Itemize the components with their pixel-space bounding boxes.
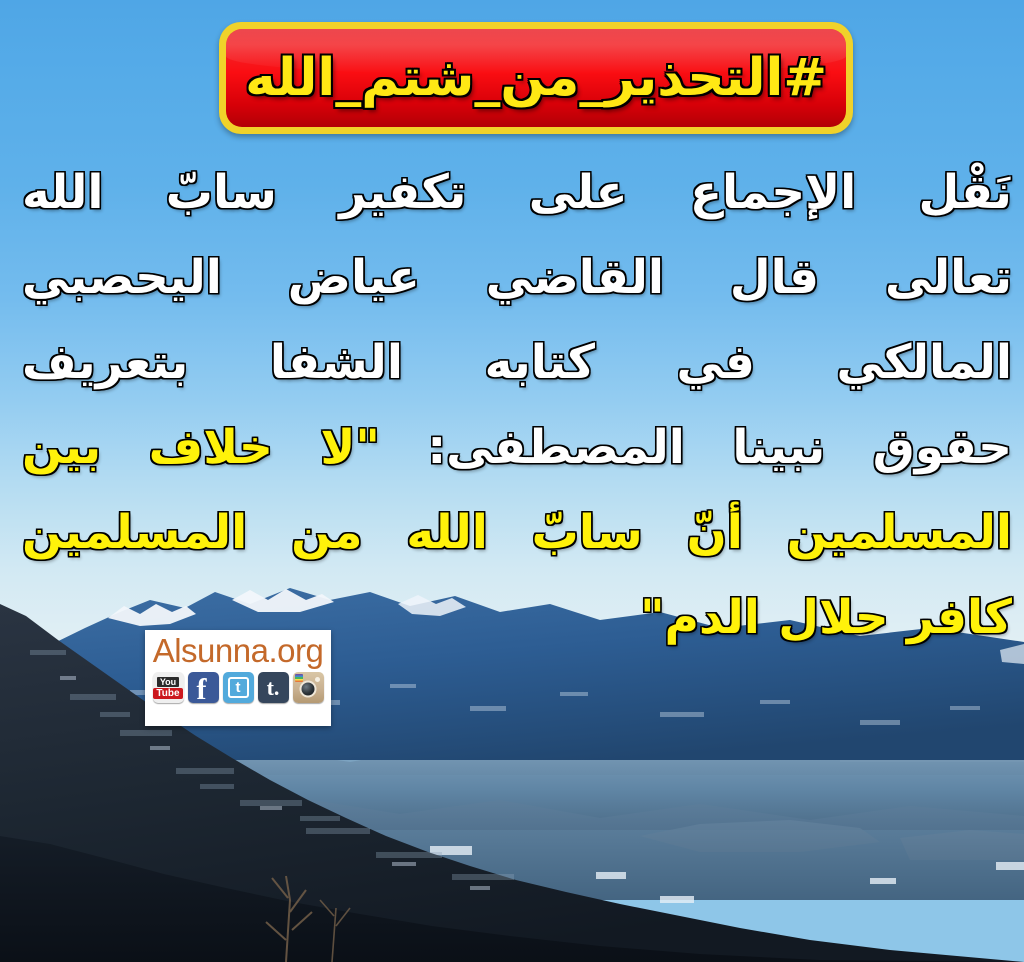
- twitter-icon[interactable]: t: [223, 672, 254, 703]
- quote-word: تكفير: [339, 165, 466, 220]
- quote-word: القاضي: [486, 250, 664, 305]
- instagram-icon[interactable]: [293, 672, 324, 703]
- quote-word-highlight: "لا: [320, 420, 379, 475]
- facebook-icon-glyph: f: [197, 675, 207, 703]
- quote-word: قال: [730, 250, 819, 305]
- quote-word: بتعريف: [22, 335, 188, 390]
- hashtag-banner-inner: #التحذير_من_شتم_الله: [226, 29, 846, 127]
- quote-word: في: [677, 335, 755, 390]
- quote-line-3: المالكي في كتابه الشفا بتعريف: [22, 320, 1012, 405]
- youtube-icon-top-label: You: [157, 677, 179, 687]
- quote-word-highlight: كافر: [907, 590, 1012, 645]
- quote-word-highlight: سابّ: [532, 505, 643, 560]
- quote-word: نبينا: [732, 420, 825, 475]
- social-links-row: You Tube f t t.: [153, 672, 324, 703]
- twitter-icon-frame: t: [228, 677, 249, 698]
- quote-word-highlight: بين: [22, 420, 101, 475]
- quote-block: نَقْل الإجماع على تكفير سابّ الله تعالى …: [22, 150, 1012, 660]
- instagram-icon-flash: [315, 677, 320, 682]
- poster-canvas: #التحذير_من_شتم_الله نَقْل الإجماع على ت…: [0, 0, 1024, 962]
- hashtag-text: #التحذير_من_شتم_الله: [245, 52, 827, 104]
- quote-word-highlight: الدم": [640, 590, 760, 645]
- hashtag-banner: #التحذير_من_شتم_الله: [219, 22, 853, 134]
- tumblr-icon[interactable]: t.: [258, 672, 289, 703]
- quote-word: سابّ: [166, 165, 277, 220]
- quote-word-highlight: أنّ: [687, 505, 743, 560]
- quote-word-highlight: خلاف: [149, 420, 273, 475]
- quote-word-highlight: المسلمين: [22, 505, 247, 560]
- quote-line-4: حقوق نبينا المصطفى: "لا خلاف بين: [22, 405, 1012, 490]
- quote-word-highlight: الله: [406, 505, 487, 560]
- quote-word-highlight: حلال: [778, 590, 888, 645]
- quote-word: عياض: [288, 250, 420, 305]
- quote-word: حقوق: [873, 420, 1012, 475]
- quote-word: المصطفى:: [427, 420, 685, 475]
- quote-word: الله: [22, 165, 103, 220]
- quote-word: نَقْل: [919, 165, 1012, 220]
- quote-line-2: تعالى قال القاضي عياض اليحصبي: [22, 235, 1012, 320]
- quote-word: اليحصبي: [22, 250, 222, 305]
- instagram-icon-stripe: [295, 674, 303, 682]
- quote-line-1: نَقْل الإجماع على تكفير سابّ الله: [22, 150, 1012, 235]
- quote-word-highlight: من: [291, 505, 362, 560]
- quote-word: على: [529, 165, 628, 220]
- twitter-icon-glyph: t: [236, 680, 241, 695]
- site-name-label: Alsunna.org: [153, 633, 324, 669]
- quote-word: المالكي: [837, 335, 1012, 390]
- quote-word: كتابه: [485, 335, 595, 390]
- quote-word: تعالى: [885, 250, 1012, 305]
- quote-line-5: المسلمين أنّ سابّ الله من المسلمين: [22, 490, 1012, 575]
- instagram-icon-lens: [300, 680, 317, 697]
- quote-word: الإجماع: [690, 165, 856, 220]
- quote-word-highlight: المسلمين: [787, 505, 1012, 560]
- facebook-icon[interactable]: f: [188, 672, 219, 703]
- youtube-icon-bottom-label: Tube: [153, 688, 182, 699]
- youtube-icon[interactable]: You Tube: [153, 672, 184, 703]
- quote-word: الشفا: [270, 335, 403, 390]
- tumblr-icon-glyph: t.: [267, 677, 280, 699]
- site-logo-card[interactable]: Alsunna.org You Tube f t t.: [145, 630, 331, 726]
